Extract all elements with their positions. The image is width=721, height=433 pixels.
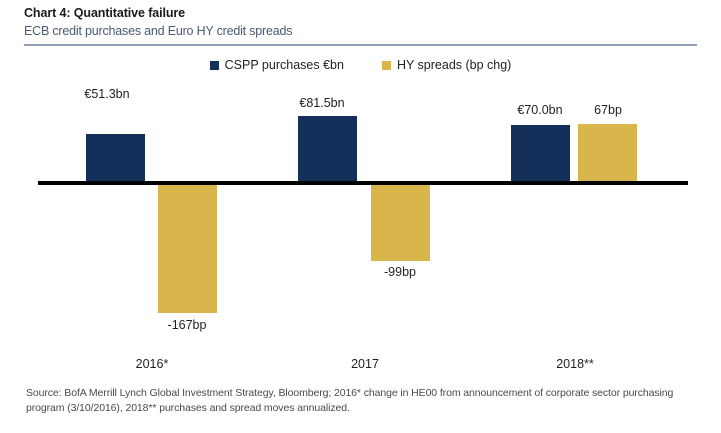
bar-cspp-2017[interactable]: [298, 116, 357, 181]
x-axis-tick-label-2017: 2017: [295, 357, 435, 371]
source-note: Source: BofA Merrill Lynch Global Invest…: [26, 386, 702, 415]
bar-cspp-2018[interactable]: [511, 125, 570, 181]
x-axis-tick-label-2016: 2016*: [82, 357, 222, 371]
bar-value-label-hy-2018: 67bp: [553, 103, 663, 117]
bar-value-label-cspp-2016: €51.3bn: [52, 87, 162, 101]
x-axis-tick-label-2018: 2018**: [505, 357, 645, 371]
bar-cspp-2016[interactable]: [86, 134, 145, 181]
zero-axis-line: [38, 181, 688, 185]
chart-card: Chart 4: Quantitative failure ECB credit…: [0, 0, 721, 433]
bar-hy-2016[interactable]: [158, 185, 217, 313]
bar-hy-2017[interactable]: [371, 185, 430, 261]
plot-area: €51.3bn -167bp €81.5bn -99bp €70.0bn 67b…: [0, 0, 721, 433]
bar-value-label-cspp-2017: €81.5bn: [267, 96, 377, 110]
bar-hy-2018[interactable]: [578, 124, 637, 181]
bar-value-label-hy-2017: -99bp: [345, 265, 455, 279]
bar-value-label-hy-2016: -167bp: [132, 318, 242, 332]
